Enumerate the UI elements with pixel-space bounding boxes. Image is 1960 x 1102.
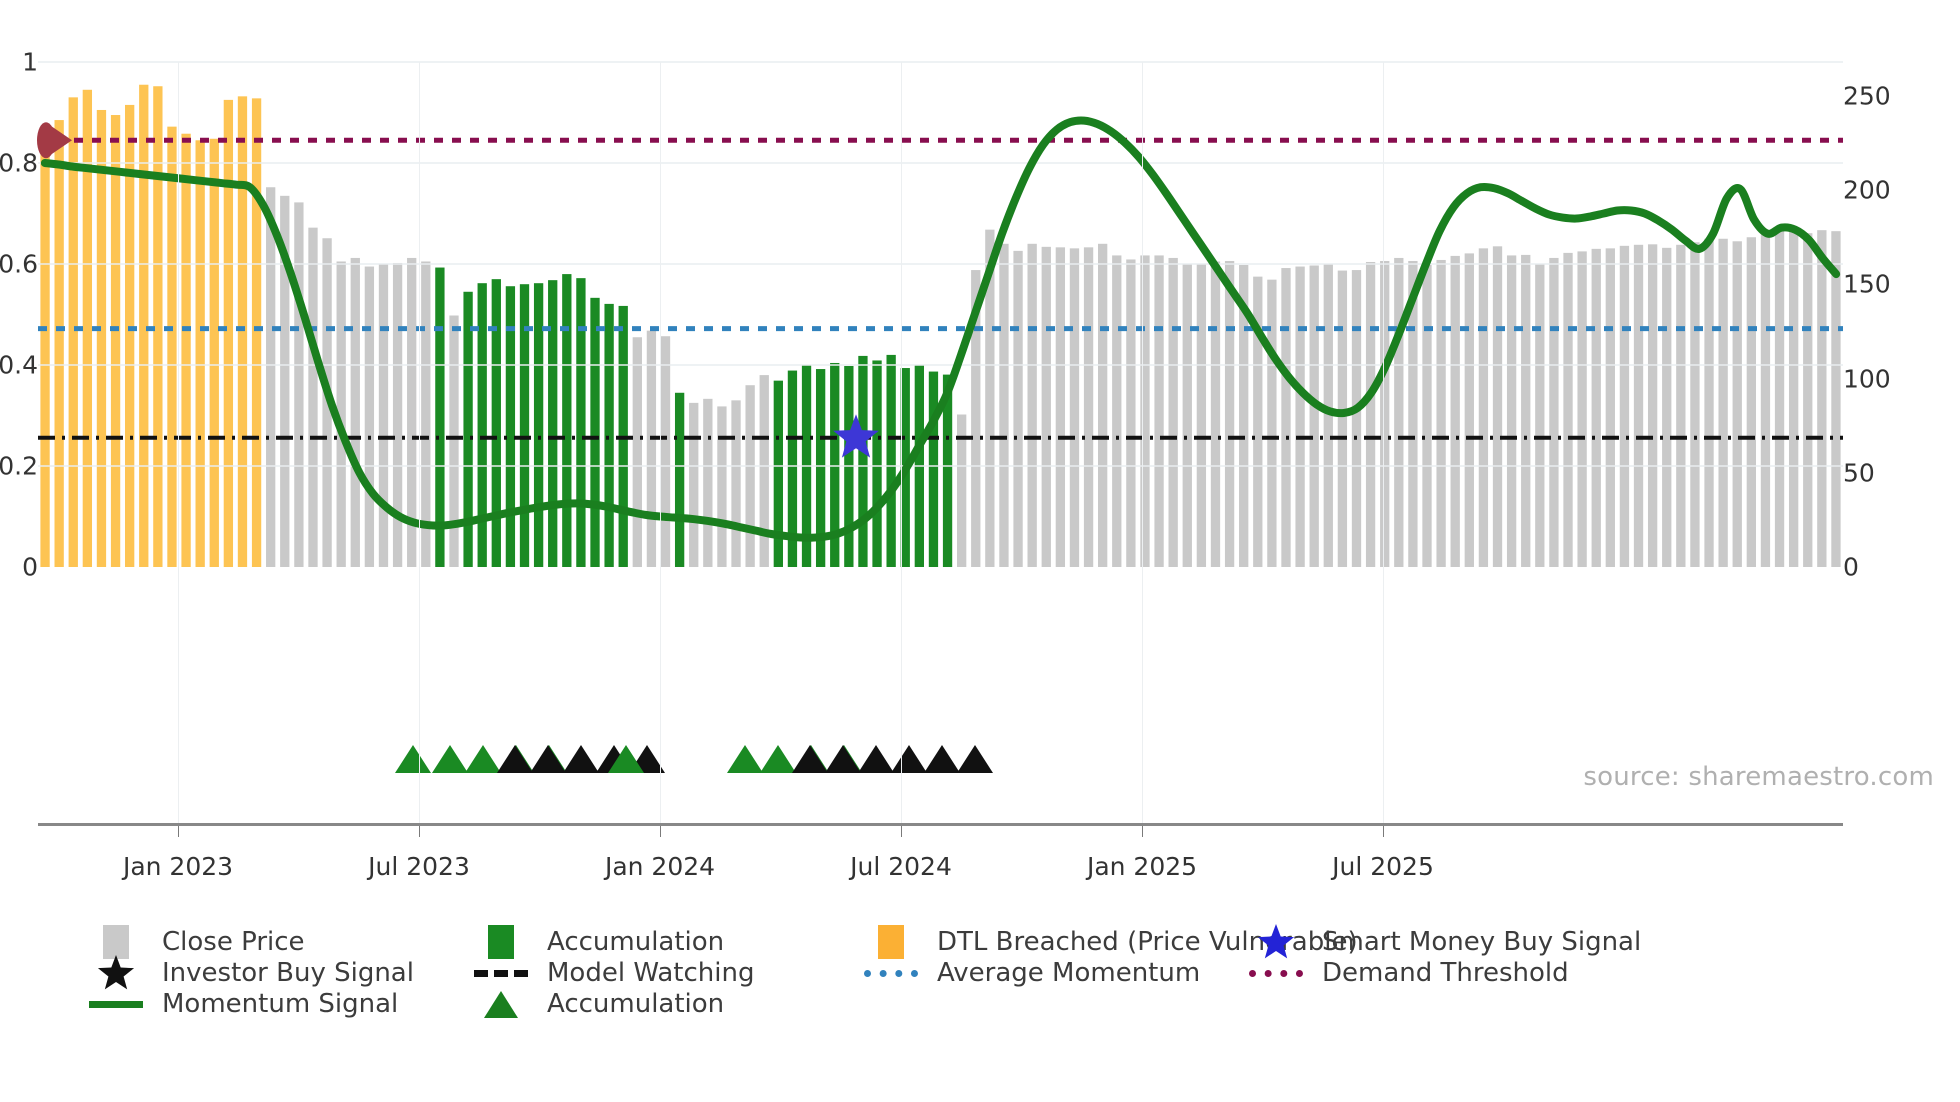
price-bar — [689, 403, 698, 567]
x-axis-tick-mark — [901, 826, 902, 837]
y-axis-left-tick-label: 0.4 — [0, 351, 38, 380]
accumulation-triangle-marker-icon — [957, 745, 993, 773]
price-bar — [1592, 249, 1601, 567]
price-bar — [858, 356, 867, 567]
price-bar — [167, 127, 176, 567]
accumulation-triangle-marker-icon — [760, 745, 796, 773]
accumulation-triangle-marker-icon — [497, 745, 533, 773]
legend-item-label: Accumulation — [547, 991, 724, 1017]
price-bar — [1183, 264, 1192, 568]
price-bar — [1747, 237, 1756, 567]
price-bar — [647, 331, 656, 567]
legend-item-label: Momentum Signal — [162, 991, 398, 1017]
price-bar — [1225, 261, 1234, 567]
price-bar — [1211, 261, 1220, 567]
price-bar — [872, 360, 881, 567]
accumulation-triangle-marker-icon — [432, 745, 468, 773]
legend-item-label: Demand Threshold — [1322, 960, 1569, 986]
price-bar — [181, 134, 190, 567]
accumulation-triangle-marker-icon — [825, 745, 861, 773]
x-axis-gridline — [178, 62, 179, 823]
accumulation-triangle-marker-icon — [563, 745, 599, 773]
legend-dashed-line-icon — [474, 970, 528, 977]
price-bar — [534, 283, 543, 567]
price-bar — [1507, 255, 1516, 567]
price-bar — [224, 100, 233, 567]
price-bar — [703, 399, 712, 567]
chart-legend: Close PriceAccumulationDTL Breached (Pri… — [86, 925, 1886, 1075]
legend-item[interactable]: Average Momentum — [861, 956, 1200, 990]
accumulation-marker-band — [38, 745, 1843, 787]
source-credit: source: sharemaestro.com — [1583, 762, 1934, 792]
price-bar — [1380, 261, 1389, 567]
price-bar — [139, 85, 148, 567]
price-bar — [1197, 264, 1206, 567]
x-axis-tick-label: Jan 2023 — [123, 852, 233, 881]
price-bar — [1535, 264, 1544, 568]
price-bar — [1479, 248, 1488, 567]
price-bar — [576, 278, 585, 567]
legend-item[interactable]: Investor Buy Signal — [86, 956, 414, 990]
plot-area — [38, 62, 1843, 567]
y-axis-right-tick-label: 100 — [1843, 364, 1891, 393]
price-bar — [675, 393, 684, 567]
x-axis-gridline — [660, 62, 661, 823]
price-bar — [1606, 248, 1615, 567]
price-bar — [1789, 230, 1798, 567]
price-bar — [294, 202, 303, 567]
legend-square-icon — [878, 925, 904, 959]
price-bar — [999, 244, 1008, 567]
price-bar — [731, 400, 740, 567]
price-bar — [379, 264, 388, 567]
y-axis-right-tick-label: 0 — [1843, 553, 1859, 582]
legend-item[interactable]: Demand Threshold — [1246, 956, 1569, 990]
price-bar — [1563, 253, 1572, 567]
price-bar — [1169, 258, 1178, 567]
price-bar — [760, 375, 769, 567]
price-bar — [1310, 266, 1319, 567]
x-axis-tick-label: Jul 2023 — [368, 852, 470, 881]
legend-item[interactable]: Model Watching — [471, 956, 754, 990]
legend-line-icon — [89, 1001, 143, 1008]
price-bar — [252, 98, 261, 567]
price-bar — [661, 336, 670, 567]
price-bar — [1098, 244, 1107, 567]
price-bar — [365, 267, 374, 567]
y-axis-right-tick-label: 250 — [1843, 81, 1891, 110]
price-bar — [1366, 262, 1375, 567]
legend-item[interactable]: Smart Money Buy Signal — [1246, 925, 1641, 959]
y-axis-left-tick-label: 0.6 — [0, 250, 38, 279]
price-bar — [1422, 265, 1431, 567]
price-bar — [1056, 247, 1065, 567]
price-bar — [548, 280, 557, 567]
accumulation-triangle-marker-icon — [858, 745, 894, 773]
x-axis-tick-label: Jan 2025 — [1087, 852, 1197, 881]
price-bar — [1126, 259, 1135, 567]
price-bar — [1451, 256, 1460, 567]
price-bar — [1831, 231, 1840, 567]
accumulation-triangle-marker-icon — [608, 745, 644, 773]
price-bar — [590, 298, 599, 567]
y-axis-left-tick-label: 0 — [22, 553, 38, 582]
price-bar — [1775, 230, 1784, 567]
price-bar — [1690, 242, 1699, 567]
x-axis-tick-mark — [660, 826, 661, 837]
legend-item-label: Average Momentum — [937, 960, 1200, 986]
price-bar — [266, 187, 275, 567]
x-axis-gridline — [1142, 62, 1143, 823]
price-bar — [1817, 230, 1826, 567]
price-bar — [1648, 244, 1657, 567]
x-axis-gridline — [419, 62, 420, 823]
price-bar — [1718, 239, 1727, 567]
price-bar — [1338, 271, 1347, 567]
accumulation-triangle-marker-icon — [792, 745, 828, 773]
price-bar — [1662, 248, 1671, 567]
price-bar — [351, 258, 360, 567]
price-bar — [1577, 251, 1586, 567]
smart-money-buy-signal-star-icon — [833, 414, 879, 457]
price-bar — [1733, 241, 1742, 567]
price-bar — [1634, 245, 1643, 567]
accumulation-triangle-marker-icon — [465, 745, 501, 773]
x-axis-tick-mark — [1383, 826, 1384, 837]
price-bar — [1620, 246, 1629, 567]
price-bar — [308, 228, 317, 567]
x-axis-tick-mark — [178, 826, 179, 837]
price-bar — [83, 90, 92, 567]
price-bar — [1154, 255, 1163, 567]
legend-item-label: Investor Buy Signal — [162, 960, 414, 986]
price-bar — [55, 120, 64, 567]
price-bar — [1267, 280, 1276, 567]
legend-item[interactable]: Accumulation — [471, 987, 724, 1021]
price-bar — [449, 316, 458, 567]
price-bar — [1295, 267, 1304, 567]
price-bar — [1465, 253, 1474, 567]
x-axis-gridline — [1383, 62, 1384, 823]
legend-item-label: Close Price — [162, 929, 305, 955]
accumulation-triangle-marker-icon — [891, 745, 927, 773]
accumulation-triangle-marker-icon — [530, 745, 566, 773]
price-bar — [1013, 251, 1022, 567]
x-axis-tick-label: Jul 2024 — [850, 852, 952, 881]
price-bar — [745, 385, 754, 567]
x-axis-tick-label: Jul 2025 — [1332, 852, 1434, 881]
y-axis-left-tick-label: 0.8 — [0, 149, 38, 178]
price-bar — [1042, 247, 1051, 567]
price-bar — [1676, 245, 1685, 567]
legend-item-label: Accumulation — [547, 929, 724, 955]
plot-svg — [38, 62, 1843, 567]
price-bar — [1028, 244, 1037, 567]
price-bar — [1394, 258, 1403, 567]
price-bar — [1493, 246, 1502, 567]
x-axis-spine — [38, 823, 1843, 826]
price-bar — [492, 279, 501, 567]
price-bar — [1281, 268, 1290, 567]
price-bar — [238, 96, 247, 567]
price-bar — [196, 140, 205, 567]
price-bar — [1704, 239, 1713, 567]
legend-item-label: Model Watching — [547, 960, 754, 986]
x-axis-tick-mark — [1142, 826, 1143, 837]
legend-item[interactable]: Momentum Signal — [86, 987, 398, 1021]
price-bar — [633, 337, 642, 567]
price-bar — [1549, 258, 1558, 567]
accumulation-triangle-marker-icon — [395, 745, 431, 773]
y-axis-left: 00.20.40.60.81 — [0, 0, 38, 1102]
chart-root: 00.20.40.60.81 050100150200250 source: s… — [0, 0, 1960, 1102]
price-bar — [210, 139, 219, 567]
price-bar — [1521, 255, 1530, 567]
legend-triangle-icon — [484, 991, 518, 1018]
y-axis-right-tick-label: 200 — [1843, 176, 1891, 205]
price-bar — [40, 132, 49, 567]
legend-dotted-line-icon — [1249, 970, 1303, 977]
legend-dotted-line-icon — [864, 970, 918, 977]
y-axis-right-tick-label: 50 — [1843, 458, 1875, 487]
accumulation-triangle-marker-icon — [727, 745, 763, 773]
price-bar — [717, 406, 726, 567]
accumulation-triangle-marker-icon — [924, 745, 960, 773]
x-axis-tick-mark — [419, 826, 420, 837]
price-bar — [929, 372, 938, 567]
price-bar — [1761, 234, 1770, 567]
y-axis-left-tick-label: 0.2 — [0, 452, 38, 481]
price-bar — [886, 355, 895, 567]
x-axis-tick-label: Jan 2024 — [605, 852, 715, 881]
price-bar — [1084, 247, 1093, 567]
price-bar — [1070, 248, 1079, 567]
legend-item-label: Smart Money Buy Signal — [1322, 929, 1641, 955]
price-bar — [478, 283, 487, 567]
y-axis-right-tick-label: 150 — [1843, 270, 1891, 299]
legend-item[interactable]: Accumulation — [471, 925, 724, 959]
price-bar — [97, 110, 106, 567]
price-bar — [562, 274, 571, 567]
price-bar — [1803, 233, 1812, 567]
price-bar — [1112, 255, 1121, 567]
price-bar — [111, 115, 120, 567]
price-bar — [1436, 260, 1445, 567]
price-bar — [604, 304, 613, 567]
y-axis-left-tick-label: 1 — [22, 48, 38, 77]
legend-square-icon — [488, 925, 514, 959]
x-axis-gridline — [901, 62, 902, 823]
price-bar — [1352, 270, 1361, 567]
